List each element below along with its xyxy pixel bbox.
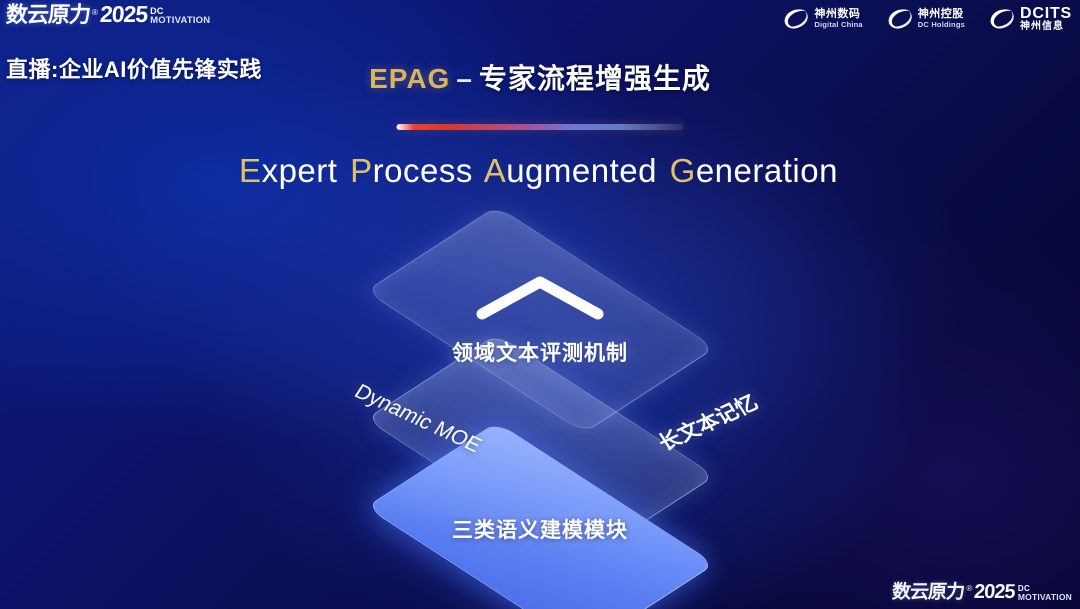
diagram-layer-bottom-label: 三类语义建模模块 bbox=[452, 514, 628, 544]
partner-name-en: 神州信息 bbox=[1020, 22, 1072, 33]
partner-name-cn: DCITS bbox=[1020, 5, 1072, 22]
subtitle-rest: xpert bbox=[262, 152, 338, 189]
diagram-layer-top-label: 领域文本评测机制 bbox=[452, 337, 628, 367]
subtitle-word-generation: Generation bbox=[670, 152, 838, 189]
partner-name-en: DC Holdings bbox=[918, 21, 965, 29]
subtitle-word-expert: Expert bbox=[239, 152, 337, 189]
watermark-dc-motivation: DC MOTIVATION bbox=[1018, 585, 1072, 602]
watermark-motivation-label: MOTIVATION bbox=[1018, 593, 1072, 602]
page-title: EPAG–专家流程增强生成 bbox=[0, 57, 1080, 97]
top-bar: 数云原力 ® 2025 DC MOTIVATION 神州数码 Digital C… bbox=[0, 0, 1080, 42]
diagram-layer-middle-label-right: 长文本记忆 bbox=[652, 387, 764, 457]
partner-text: 神州数码 Digital China bbox=[814, 9, 862, 29]
subtitle-word-augmented: Augmented bbox=[484, 152, 657, 189]
watermark-name-cn: 数云原力 bbox=[892, 583, 965, 602]
subtitle-word-process: Process bbox=[350, 152, 473, 189]
swirl-logo-icon bbox=[989, 8, 1015, 30]
partner-logo-group: 神州数码 Digital China 神州控股 DC Holdings bbox=[783, 5, 1072, 33]
partner-text: DCITS 神州信息 bbox=[1020, 5, 1072, 33]
subtitle-rest: ugmented bbox=[506, 152, 657, 189]
subtitle-cap: G bbox=[670, 152, 696, 189]
brand-motivation-label: MOTIVATION bbox=[150, 16, 210, 26]
partner-text: 神州控股 DC Holdings bbox=[918, 9, 965, 29]
swirl-logo-icon bbox=[783, 8, 809, 30]
chevron-up-icon bbox=[474, 274, 606, 320]
subtitle-rest: rocess bbox=[373, 152, 473, 189]
partner-logo-dcits: DCITS 神州信息 bbox=[989, 5, 1072, 33]
subtitle-cap: A bbox=[484, 152, 507, 189]
slide-background: 数云原力 ® 2025 DC MOTIVATION 神州数码 Digital C… bbox=[0, 0, 1080, 609]
subtitle-cap: E bbox=[239, 152, 262, 189]
brand-year: 2025 bbox=[99, 3, 148, 26]
brand-dc-motivation: DC MOTIVATION bbox=[150, 7, 210, 26]
title-dash: – bbox=[450, 63, 479, 94]
brand-logo-top-left: 数云原力 ® 2025 DC MOTIVATION bbox=[6, 3, 210, 26]
swirl-logo-icon bbox=[887, 8, 913, 30]
layer-stack-diagram: 领域文本评测机制 Dynamic MOE 长文本记忆 三类语义建模模块 bbox=[280, 232, 800, 582]
partner-logo-dc-holdings: 神州控股 DC Holdings bbox=[887, 8, 965, 30]
partner-name-en: Digital China bbox=[814, 21, 862, 29]
subtitle-rest: eneration bbox=[696, 152, 838, 189]
partner-logo-digital-china: 神州数码 Digital China bbox=[783, 8, 862, 30]
subtitle-cap: P bbox=[350, 152, 373, 189]
brand-name-cn: 数云原力 bbox=[5, 4, 91, 26]
registered-mark: ® bbox=[92, 9, 98, 17]
gradient-divider bbox=[397, 124, 684, 130]
watermark-registered-mark: ® bbox=[966, 585, 972, 593]
watermark-year: 2025 bbox=[974, 582, 1016, 602]
brand-watermark-bottom-right: 数云原力 ® 2025 DC MOTIVATION bbox=[892, 582, 1072, 602]
title-chinese: 专家流程增强生成 bbox=[479, 63, 711, 94]
title-acronym: EPAG bbox=[369, 63, 450, 94]
subtitle: Expert Process Augmented Generation bbox=[0, 152, 1080, 190]
